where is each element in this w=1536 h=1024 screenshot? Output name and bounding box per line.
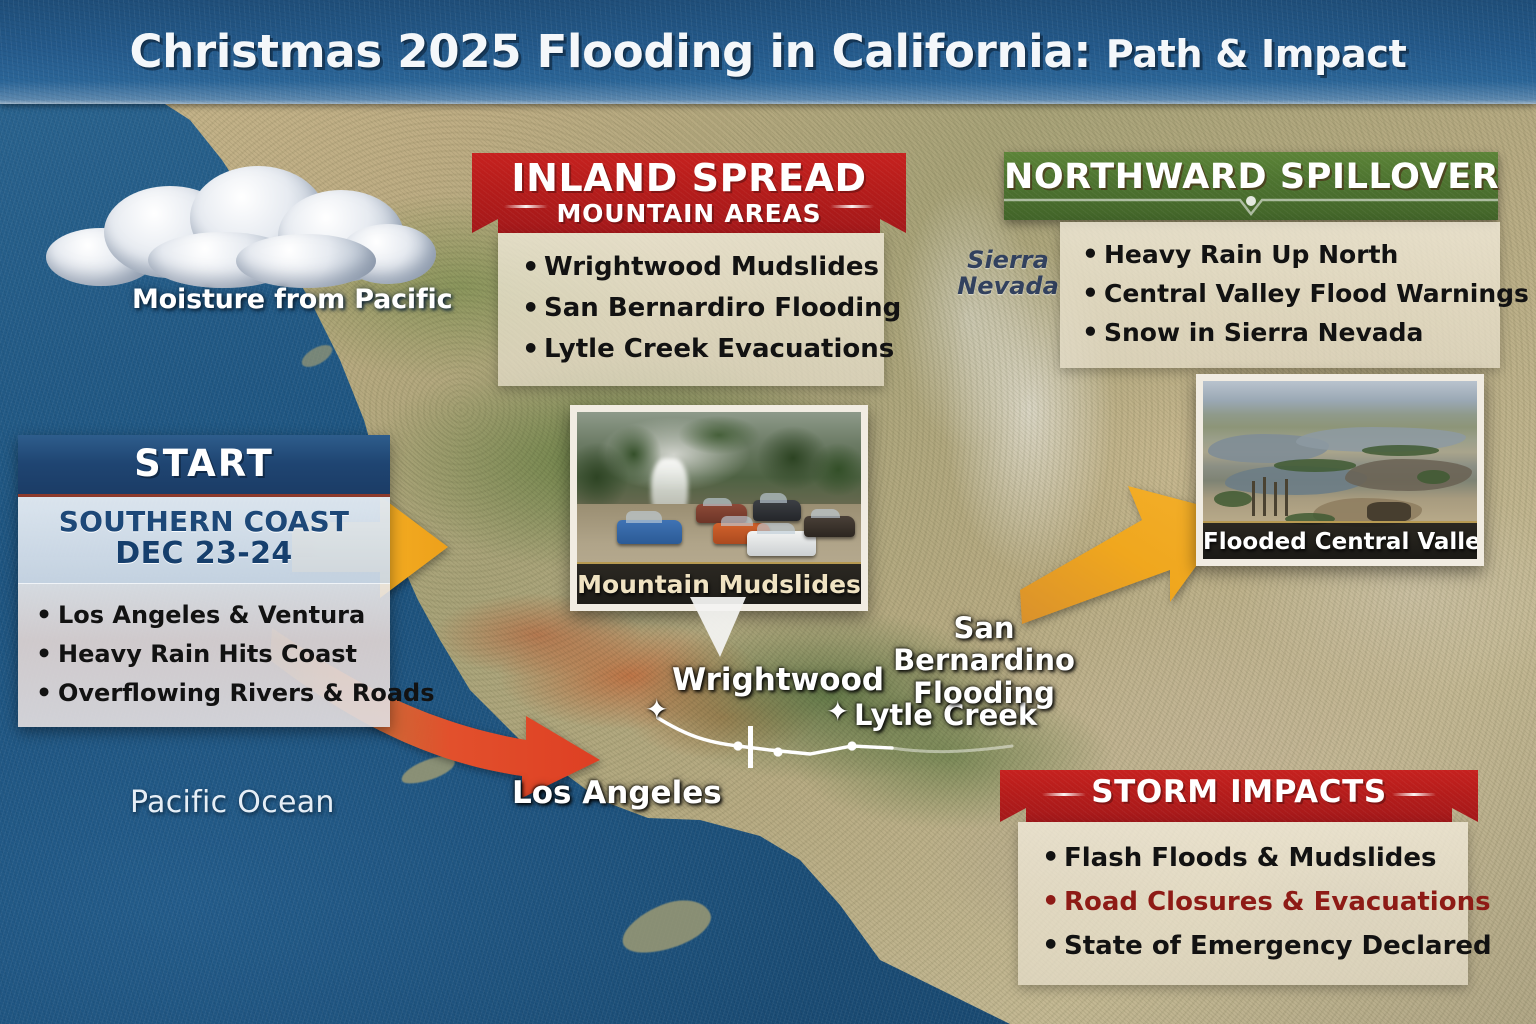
- start-subtitle-dates: DEC 23-24: [26, 537, 382, 571]
- list-item: San Bernardiro Flooding: [522, 288, 868, 329]
- inland-banner-title: INLAND SPREAD: [472, 159, 906, 197]
- pointer-to-wrightwood: [690, 597, 746, 664]
- ribbon-dash-left: [504, 205, 548, 208]
- storm-impacts-panel: Flash Floods & Mudslides Road Closures &…: [1018, 822, 1468, 985]
- marker-lytle-creek-icon: ✦: [826, 698, 849, 726]
- list-item: Overflowing Rivers & Roads: [36, 674, 376, 713]
- photo-card-central-valley: Flooded Central Valley: [1196, 374, 1484, 566]
- impacts-bullet-list: Flash Floods & Mudslides Road Closures &…: [1042, 836, 1452, 969]
- moisture-from-pacific-label: Moisture from Pacific: [132, 284, 452, 315]
- list-item: Road Closures & Evacuations: [1042, 880, 1452, 924]
- sierra-nevada-label: Sierra Nevada: [948, 248, 1068, 300]
- list-item: Lytle Creek Evacuations: [522, 329, 868, 370]
- ribbon-dash-left: [1042, 793, 1086, 796]
- start-panel-body: Los Angeles & Ventura Heavy Rain Hits Co…: [18, 584, 390, 727]
- inland-bullet-list: Wrightwood Mudslides San Bernardiro Floo…: [522, 247, 868, 370]
- inland-spread-banner: INLAND SPREAD MOUNTAIN AREAS: [472, 153, 906, 233]
- northward-spillover-panel: Heavy Rain Up North Central Valley Flood…: [1060, 222, 1500, 368]
- page-title: Christmas 2025 Flooding in California: P…: [0, 0, 1536, 104]
- storm-impacts-banner: STORM IMPACTS: [1000, 770, 1478, 822]
- list-item: Heavy Rain Up North: [1082, 236, 1484, 275]
- north-bullet-list: Heavy Rain Up North Central Valley Flood…: [1082, 236, 1484, 352]
- page-title-sub: Path & Impact: [1106, 32, 1407, 76]
- start-bullet-list: Los Angeles & Ventura Heavy Rain Hits Co…: [36, 596, 376, 713]
- photo-frame: Flooded Central Valley: [1203, 381, 1477, 559]
- list-item: Heavy Rain Hits Coast: [36, 635, 376, 674]
- list-item: Flash Floods & Mudslides: [1042, 836, 1452, 880]
- ribbon-dash-right: [830, 205, 874, 208]
- start-panel-subtitle: SOUTHERN COAST DEC 23-24: [18, 497, 390, 584]
- start-panel-header: START: [18, 435, 390, 497]
- map-label-los-angeles: Los Angeles: [512, 775, 722, 811]
- inland-banner-subtitle: MOUNTAIN AREAS: [472, 199, 906, 229]
- banner-chevron-icon: [1004, 196, 1498, 218]
- title-bar: Christmas 2025 Flooding in California: P…: [0, 0, 1536, 104]
- list-item: Central Valley Flood Warnings: [1082, 275, 1484, 314]
- map-label-wrightwood: Wrightwood: [672, 662, 884, 698]
- marker-wrightwood-icon: ✦: [645, 696, 668, 724]
- page-title-main: Christmas 2025 Flooding in California:: [130, 25, 1092, 78]
- start-panel: START SOUTHERN COAST DEC 23-24 Los Angel…: [18, 435, 390, 727]
- list-item: Snow in Sierra Nevada: [1082, 314, 1484, 353]
- storm-cloud-icon: [40, 150, 430, 290]
- list-item: State of Emergency Declared: [1042, 924, 1452, 968]
- list-item: Wrightwood Mudslides: [522, 247, 868, 288]
- northward-spillover-banner: NORTHWARD SPILLOVER: [1004, 152, 1498, 220]
- photo-caption: Flooded Central Valley: [1203, 521, 1477, 559]
- map-label-san-bernardino: San Bernardino Flooding: [876, 612, 1092, 709]
- start-subtitle-region: SOUTHERN COAST: [26, 506, 382, 537]
- photo-frame: Mountain Mudslides: [577, 412, 861, 604]
- ribbon-dash-right: [1392, 793, 1436, 796]
- start-label: START: [18, 442, 390, 485]
- list-item: Los Angeles & Ventura: [36, 596, 376, 635]
- inland-spread-panel: Wrightwood Mudslides San Bernardiro Floo…: [498, 233, 884, 386]
- north-banner-title: NORTHWARD SPILLOVER: [1004, 160, 1498, 195]
- infographic-canvas: Christmas 2025 Flooding in California: P…: [0, 0, 1536, 1024]
- photo-card-mudslides: Mountain Mudslides: [570, 405, 868, 611]
